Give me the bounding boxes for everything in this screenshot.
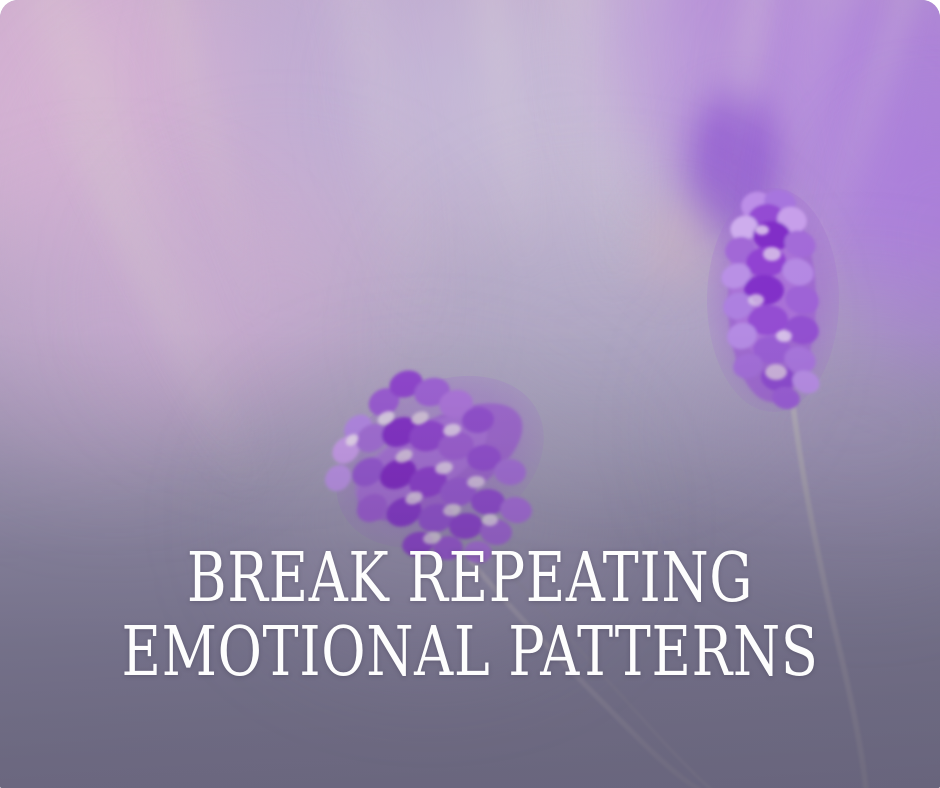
caption-line-2: EMOTIONAL PATTERNS: [96, 619, 843, 687]
lavender-spike-right: [707, 187, 866, 788]
quote-card: BREAK REPEATING EMOTIONAL PATTERNS: [0, 0, 940, 788]
caption-line-1: BREAK REPEATING: [96, 545, 843, 613]
caption-block: BREAK REPEATING EMOTIONAL PATTERNS: [0, 545, 940, 687]
